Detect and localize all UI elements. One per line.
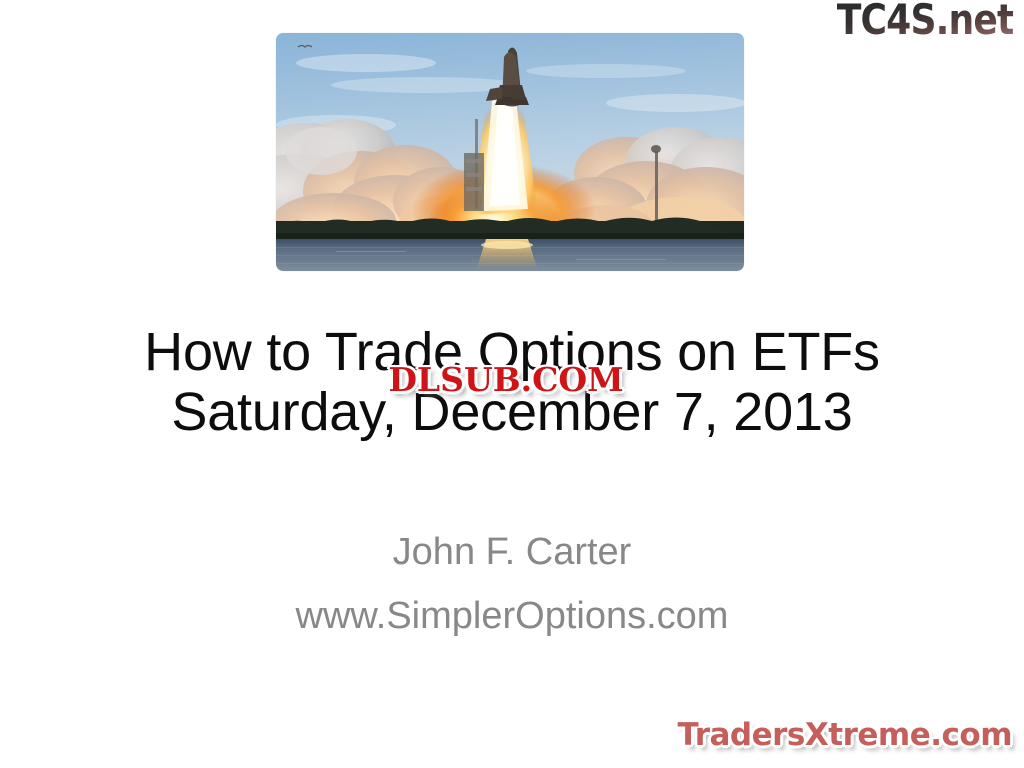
presentation-slide: How to Trade Options on ETFs Saturday, D… bbox=[0, 0, 1024, 768]
watermark-tc4s: TC4S.net bbox=[836, 0, 1013, 42]
watermark-tradersxtreme: TradersXtreme.com bbox=[677, 718, 1012, 752]
space-shuttle-launch-photo bbox=[276, 33, 744, 271]
launch-photo-graphic bbox=[276, 33, 744, 271]
presenter-name: John F. Carter bbox=[0, 520, 1024, 584]
presenter-website: www.SimplerOptions.com bbox=[0, 584, 1024, 648]
watermark-dlsub: DLSUB.COM bbox=[366, 362, 646, 398]
slide-subtitle: John F. Carter www.SimplerOptions.com bbox=[0, 520, 1024, 648]
